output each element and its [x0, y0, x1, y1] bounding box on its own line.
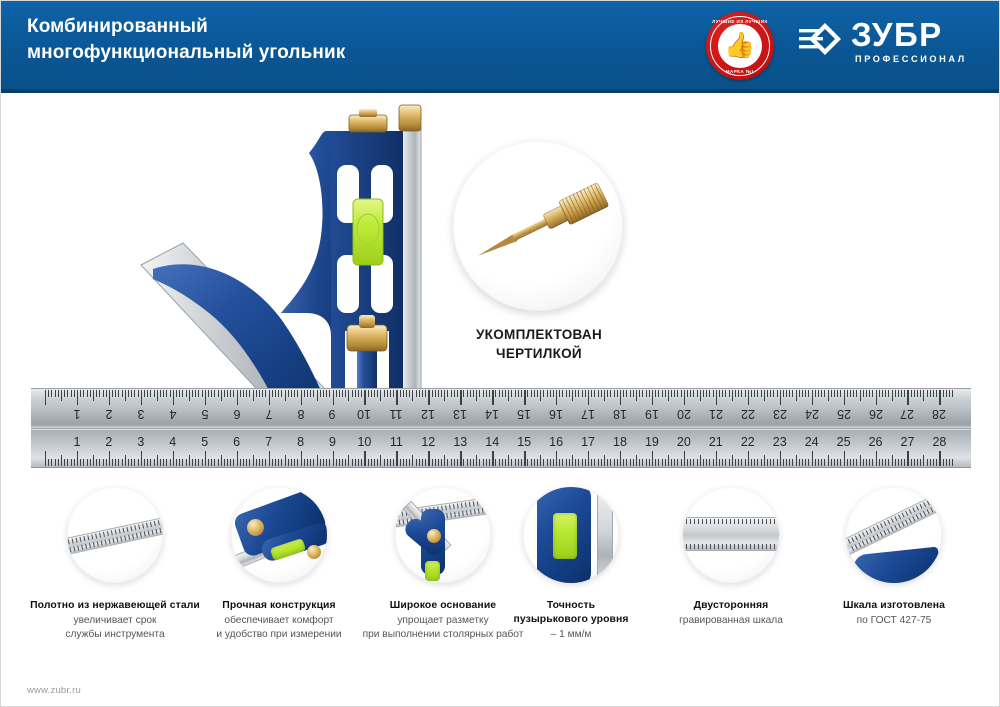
mini-tick	[159, 528, 161, 533]
ruler-tick	[898, 459, 899, 466]
ruler-tick	[815, 390, 816, 397]
ruler-tick	[195, 390, 196, 397]
ruler-tick	[122, 390, 123, 397]
mini-tick	[880, 532, 883, 537]
ruler-tick	[307, 459, 308, 466]
ruler-tick	[80, 390, 81, 397]
ruler-tick	[246, 390, 247, 397]
ruler-tick	[393, 459, 394, 466]
ruler-tick	[620, 390, 621, 405]
ruler-tick	[51, 390, 52, 397]
scriber-handle	[558, 182, 609, 226]
ruler-tick	[55, 459, 56, 466]
ruler-tick	[591, 459, 592, 466]
ruler-tick	[821, 459, 822, 466]
ruler-tick	[71, 390, 72, 397]
mini-tick	[486, 508, 488, 513]
ruler-tick	[154, 390, 155, 397]
mini-tick	[154, 521, 156, 526]
mini-tick	[754, 519, 755, 524]
ruler-tick	[163, 459, 164, 466]
ruler-tick	[256, 459, 257, 466]
ruler-tick	[189, 390, 190, 401]
ruler-tick	[700, 390, 701, 401]
ruler-tick	[304, 459, 305, 466]
ruler-tick	[377, 390, 378, 397]
ruler-tick	[230, 390, 231, 397]
ruler-tick	[547, 390, 548, 397]
ruler-tick	[304, 390, 305, 397]
ruler-tick	[693, 459, 694, 466]
ruler-tick	[668, 455, 669, 466]
ruler-tick	[923, 390, 924, 401]
page-title: Комбинированный многофункциональный угол…	[27, 14, 345, 66]
ruler-tick	[400, 459, 401, 466]
ruler-tick	[824, 459, 825, 466]
ruler-tick	[96, 459, 97, 466]
mini-tick	[445, 505, 447, 510]
ruler-tick	[396, 390, 397, 405]
ruler-tick	[630, 459, 631, 466]
ruler-tick	[671, 459, 672, 466]
ruler-tick	[438, 390, 439, 397]
brass-knob-right	[399, 105, 421, 131]
ruler-tick	[649, 459, 650, 466]
mini-tick	[134, 525, 136, 530]
ruler-tick	[125, 455, 126, 466]
ruler-tick	[642, 390, 643, 397]
ruler-tick	[588, 390, 589, 405]
steel-ruler-icon	[67, 515, 163, 556]
ruler-tick	[131, 459, 132, 466]
mini-tick	[482, 508, 484, 513]
ruler-tick	[796, 390, 797, 401]
ruler-number: 6	[228, 435, 246, 449]
mini-tick	[490, 507, 491, 512]
ruler-tick	[218, 459, 219, 466]
mini-tick	[710, 544, 711, 549]
ruler-tick	[323, 459, 324, 466]
ruler-number: 15	[515, 407, 533, 421]
mini-tick	[937, 495, 940, 500]
mini-tick	[941, 493, 942, 498]
ruler-tick	[917, 459, 918, 466]
ruler-tick	[473, 459, 474, 466]
ruler-tick	[748, 390, 749, 405]
feature-caption: Полотно из нержавеющей стали увеличивает…	[30, 599, 200, 641]
feature-image-1	[67, 487, 163, 583]
ruler-tick	[808, 390, 809, 397]
mini-tick	[461, 503, 463, 508]
ruler-tick	[147, 390, 148, 397]
mini-tick	[126, 527, 128, 532]
ruler-tick	[352, 390, 353, 397]
ruler-number: 9	[323, 407, 341, 421]
ruler-tick	[725, 459, 726, 466]
ruler-tick	[927, 459, 928, 466]
ruler-tick	[67, 459, 68, 466]
mini-tick	[766, 519, 767, 524]
mini-tick	[742, 544, 743, 549]
ruler-tick	[384, 459, 385, 466]
ruler-tick	[719, 459, 720, 466]
feature-title: Полотно из нержавеющей стали	[30, 599, 200, 613]
ruler-tick	[301, 390, 302, 405]
ruler-tick	[840, 459, 841, 466]
ruler-tick	[946, 390, 947, 397]
ruler-tick	[336, 390, 337, 397]
mini-tick	[124, 536, 126, 541]
brass-thumbscrew-top	[349, 109, 387, 132]
mini-tick	[69, 547, 71, 552]
mini-tick	[706, 544, 707, 549]
ruler-tick	[243, 390, 244, 397]
ruler-tick	[697, 390, 698, 397]
ruler-tick	[447, 390, 448, 397]
mini-tick	[927, 509, 930, 514]
ruler-tick	[729, 459, 730, 466]
ruler-tick	[467, 459, 468, 466]
ruler-number: 11	[387, 435, 405, 449]
ruler-tick	[224, 459, 225, 466]
mini-tick	[738, 519, 739, 524]
ruler-tick	[869, 459, 870, 466]
ruler-tick	[106, 459, 107, 466]
mini-tick	[909, 509, 912, 514]
ruler-tick	[313, 390, 314, 397]
mini-tick	[710, 519, 711, 524]
ruler-tick	[326, 390, 327, 397]
ruler-tick	[368, 390, 369, 397]
mini-tick	[722, 544, 723, 549]
ruler-tick	[224, 390, 225, 397]
feature-list: Полотно из нержавеющей стали увеличивает…	[1, 487, 1000, 667]
mini-tick	[462, 511, 464, 516]
ruler-tick	[754, 459, 755, 466]
mini-tick	[858, 543, 861, 548]
mini-tick	[778, 544, 779, 549]
ruler-number: 24	[803, 407, 821, 421]
ruler-tick	[486, 390, 487, 397]
mini-tick	[83, 536, 85, 541]
ruler-tick	[189, 455, 190, 466]
ruler-tick	[227, 390, 228, 397]
ruler-tick	[176, 390, 177, 397]
ruler-tick	[786, 390, 787, 397]
ruler-tick	[761, 459, 762, 466]
ruler-tick	[278, 459, 279, 466]
ruler-tick	[518, 390, 519, 397]
mini-tick	[91, 534, 93, 539]
mini-tick	[686, 519, 687, 524]
ruler-tick	[700, 455, 701, 466]
ruler-tick	[681, 459, 682, 466]
ruler-tick	[179, 459, 180, 466]
ruler-tick	[866, 390, 867, 397]
ruler-tick	[492, 451, 493, 466]
ruler-tick	[160, 459, 161, 466]
ruler-tick	[444, 455, 445, 466]
ruler-number: 19	[643, 407, 661, 421]
ruler-tick	[738, 459, 739, 466]
ruler-tick	[109, 390, 110, 405]
square-blade-vertical	[401, 129, 421, 403]
ruler-number: 19	[643, 435, 661, 449]
ruler-tick	[872, 390, 873, 397]
mini-tick	[855, 544, 858, 549]
ruler-tick	[163, 390, 164, 397]
ruler-tick	[687, 390, 688, 397]
mini-tick	[105, 540, 107, 545]
bubble-level-vial	[425, 561, 440, 581]
ruler-tick	[840, 390, 841, 397]
ruler-tick	[777, 390, 778, 397]
ruler-tick	[850, 459, 851, 466]
ruler-tick	[106, 390, 107, 397]
mini-tick	[891, 527, 894, 532]
mini-tick	[97, 541, 99, 546]
ruler-tick	[256, 390, 257, 397]
mini-tick	[449, 505, 451, 510]
ruler-tick	[479, 459, 480, 466]
mini-tick	[112, 538, 114, 543]
ruler-tick	[547, 459, 548, 466]
mini-tick	[905, 520, 908, 525]
mini-tick	[738, 544, 739, 549]
mini-tick	[120, 536, 122, 541]
ruler-tick	[706, 459, 707, 466]
ruler-tick	[403, 390, 404, 397]
ruler-tick	[578, 459, 579, 466]
mini-tick	[67, 548, 68, 553]
mini-tick	[718, 544, 719, 549]
mini-tick	[77, 545, 79, 550]
ruler-tick	[499, 459, 500, 466]
mini-tick	[470, 510, 472, 515]
ruler-tick	[71, 459, 72, 466]
feature-description: – 1 мм/м	[486, 628, 656, 642]
ruler-tick	[198, 459, 199, 466]
ruler-tick	[45, 451, 46, 466]
ruler-tick	[173, 451, 174, 466]
mini-tick	[923, 511, 926, 516]
ruler-tick	[812, 390, 813, 405]
ruler-tick	[524, 390, 525, 405]
ruler-tick	[777, 459, 778, 466]
ruler-tick	[668, 390, 669, 401]
ruler-tick	[575, 390, 576, 397]
ruler-tick	[923, 455, 924, 466]
ruler-tick	[799, 390, 800, 397]
mini-tick	[478, 509, 480, 514]
mini-tick	[722, 519, 723, 524]
ruler-tick	[952, 459, 953, 466]
ruler-tick	[495, 459, 496, 466]
ruler-tick	[895, 390, 896, 397]
ruler-tick	[352, 459, 353, 466]
arrow-diamond-icon	[799, 23, 843, 55]
ruler-number: 10	[355, 407, 373, 421]
ruler-tick	[93, 390, 94, 401]
ruler-tick	[543, 459, 544, 466]
ruler-tick	[729, 390, 730, 397]
ruler-tick	[425, 459, 426, 466]
ruler-tick	[128, 459, 129, 466]
ruler-number: 16	[547, 435, 565, 449]
ruler-number: 26	[867, 407, 885, 421]
ruler-tick	[77, 390, 78, 405]
mini-tick	[690, 519, 691, 524]
mini-tick	[734, 544, 735, 549]
ruler-tick	[690, 459, 691, 466]
ruler-tick	[186, 390, 187, 397]
ruler-number: 28	[930, 435, 948, 449]
mini-tick	[109, 539, 111, 544]
ruler-tick	[799, 459, 800, 466]
ruler-tick	[48, 459, 49, 466]
ruler-tick	[815, 459, 816, 466]
ruler-tick	[463, 390, 464, 397]
ruler-tick	[476, 455, 477, 466]
ruler-tick	[317, 390, 318, 401]
ruler-tick	[422, 390, 423, 397]
mini-tick	[901, 522, 904, 527]
mini-tick	[140, 532, 142, 537]
ruler-tick	[585, 390, 586, 397]
ruler-tick	[732, 455, 733, 466]
ruler-tick	[623, 390, 624, 397]
ruler-tick	[527, 459, 528, 466]
mini-tick	[158, 520, 160, 525]
ruler-tick	[741, 390, 742, 397]
ruler-tick	[713, 459, 714, 466]
steel-ruler-icon	[846, 488, 942, 555]
ruler-tick	[249, 459, 250, 466]
ruler-tick	[333, 451, 334, 466]
mini-tick	[686, 544, 687, 549]
ruler-bottom-scale: 1234567891011121314151617181920212223242…	[31, 430, 971, 466]
ruler-tick	[703, 390, 704, 397]
ruler-tick	[444, 390, 445, 401]
ruler-tick	[134, 390, 135, 397]
ruler-tick	[703, 459, 704, 466]
mini-tick	[473, 501, 475, 506]
ruler-tick	[639, 459, 640, 466]
ruler-tick	[237, 451, 238, 466]
ruler-tick	[460, 390, 461, 405]
ruler-tick	[888, 459, 889, 466]
feature-description: гравированная шкала	[646, 614, 816, 628]
mini-tick	[454, 512, 456, 517]
mini-tick	[399, 520, 401, 525]
ruler-tick	[911, 390, 912, 397]
ruler-tick	[789, 390, 790, 397]
mini-tick	[851, 537, 854, 542]
ruler-tick	[856, 459, 857, 466]
ruler-number: 18	[611, 407, 629, 421]
ruler-tick	[502, 459, 503, 466]
ruler-number: 24	[803, 435, 821, 449]
ruler-tick	[320, 390, 321, 397]
ruler-tick	[505, 459, 506, 466]
ruler-tick	[575, 459, 576, 466]
ruler-tick	[911, 459, 912, 466]
ruler-tick	[732, 390, 733, 401]
ruler-tick	[409, 390, 410, 397]
feature-title: Прочная конструкция	[194, 599, 364, 613]
ruler-number: 6	[228, 407, 246, 421]
ruler-tick	[569, 459, 570, 466]
ruler-tick	[665, 459, 666, 466]
ruler-tick	[499, 390, 500, 397]
ruler-tick	[792, 390, 793, 397]
ruler-tick	[297, 459, 298, 466]
ruler-tick	[406, 390, 407, 397]
ruler-tick	[460, 451, 461, 466]
ruler-tick	[416, 459, 417, 466]
ruler-tick	[834, 459, 835, 466]
ruler-tick	[617, 459, 618, 466]
ruler-tick	[531, 459, 532, 466]
ruler-tick	[713, 390, 714, 397]
ruler-tick	[301, 451, 302, 466]
mini-tick	[698, 519, 699, 524]
ruler-tick	[831, 390, 832, 397]
feature-image-5	[683, 487, 779, 583]
ruler-tick	[358, 459, 359, 466]
ruler-tick	[716, 390, 717, 405]
ruler-tick	[400, 390, 401, 397]
ruler-tick	[780, 390, 781, 405]
mini-tick	[873, 536, 876, 541]
ruler-tick	[633, 459, 634, 466]
feature-caption: Точность пузырькового уровня – 1 мм/м	[486, 599, 656, 642]
ruler-tick	[585, 459, 586, 466]
ruler-tick	[428, 451, 429, 466]
ruler-tick	[390, 459, 391, 466]
ruler-tick	[562, 459, 563, 466]
ruler-tick	[633, 390, 634, 397]
ruler-tick	[917, 390, 918, 397]
ruler-tick	[112, 459, 113, 466]
ruler-tick	[598, 390, 599, 397]
ruler-tick	[719, 390, 720, 397]
ruler-tick	[709, 459, 710, 466]
ruler-tick	[879, 390, 880, 397]
ruler-tick	[946, 459, 947, 466]
ruler-tick	[578, 390, 579, 397]
ruler-tick	[952, 390, 953, 397]
ruler-tick	[246, 459, 247, 466]
mini-tick	[150, 522, 152, 527]
mini-tick	[855, 535, 858, 540]
ruler-tick	[419, 459, 420, 466]
ruler-tick	[511, 459, 512, 466]
ruler-tick	[195, 459, 196, 466]
ruler-tick	[483, 459, 484, 466]
ruler-tick	[738, 390, 739, 397]
ruler-number: 12	[419, 407, 437, 421]
steel-ruler-scale: 1234567891011121314151617181920212223242…	[31, 388, 971, 468]
mini-tick	[714, 519, 715, 524]
mini-tick	[905, 511, 908, 516]
feature-description: увеличивает срок службы инструмента	[30, 614, 200, 641]
ruler-tick	[87, 390, 88, 397]
ruler-tick	[812, 451, 813, 466]
feature-description: обеспечивает комфорт и удобство при изме…	[194, 614, 364, 641]
ruler-tick	[757, 459, 758, 466]
scriber-caption: УКОМПЛЕКТОВАН ЧЕРТИЛКОЙ	[421, 325, 657, 363]
